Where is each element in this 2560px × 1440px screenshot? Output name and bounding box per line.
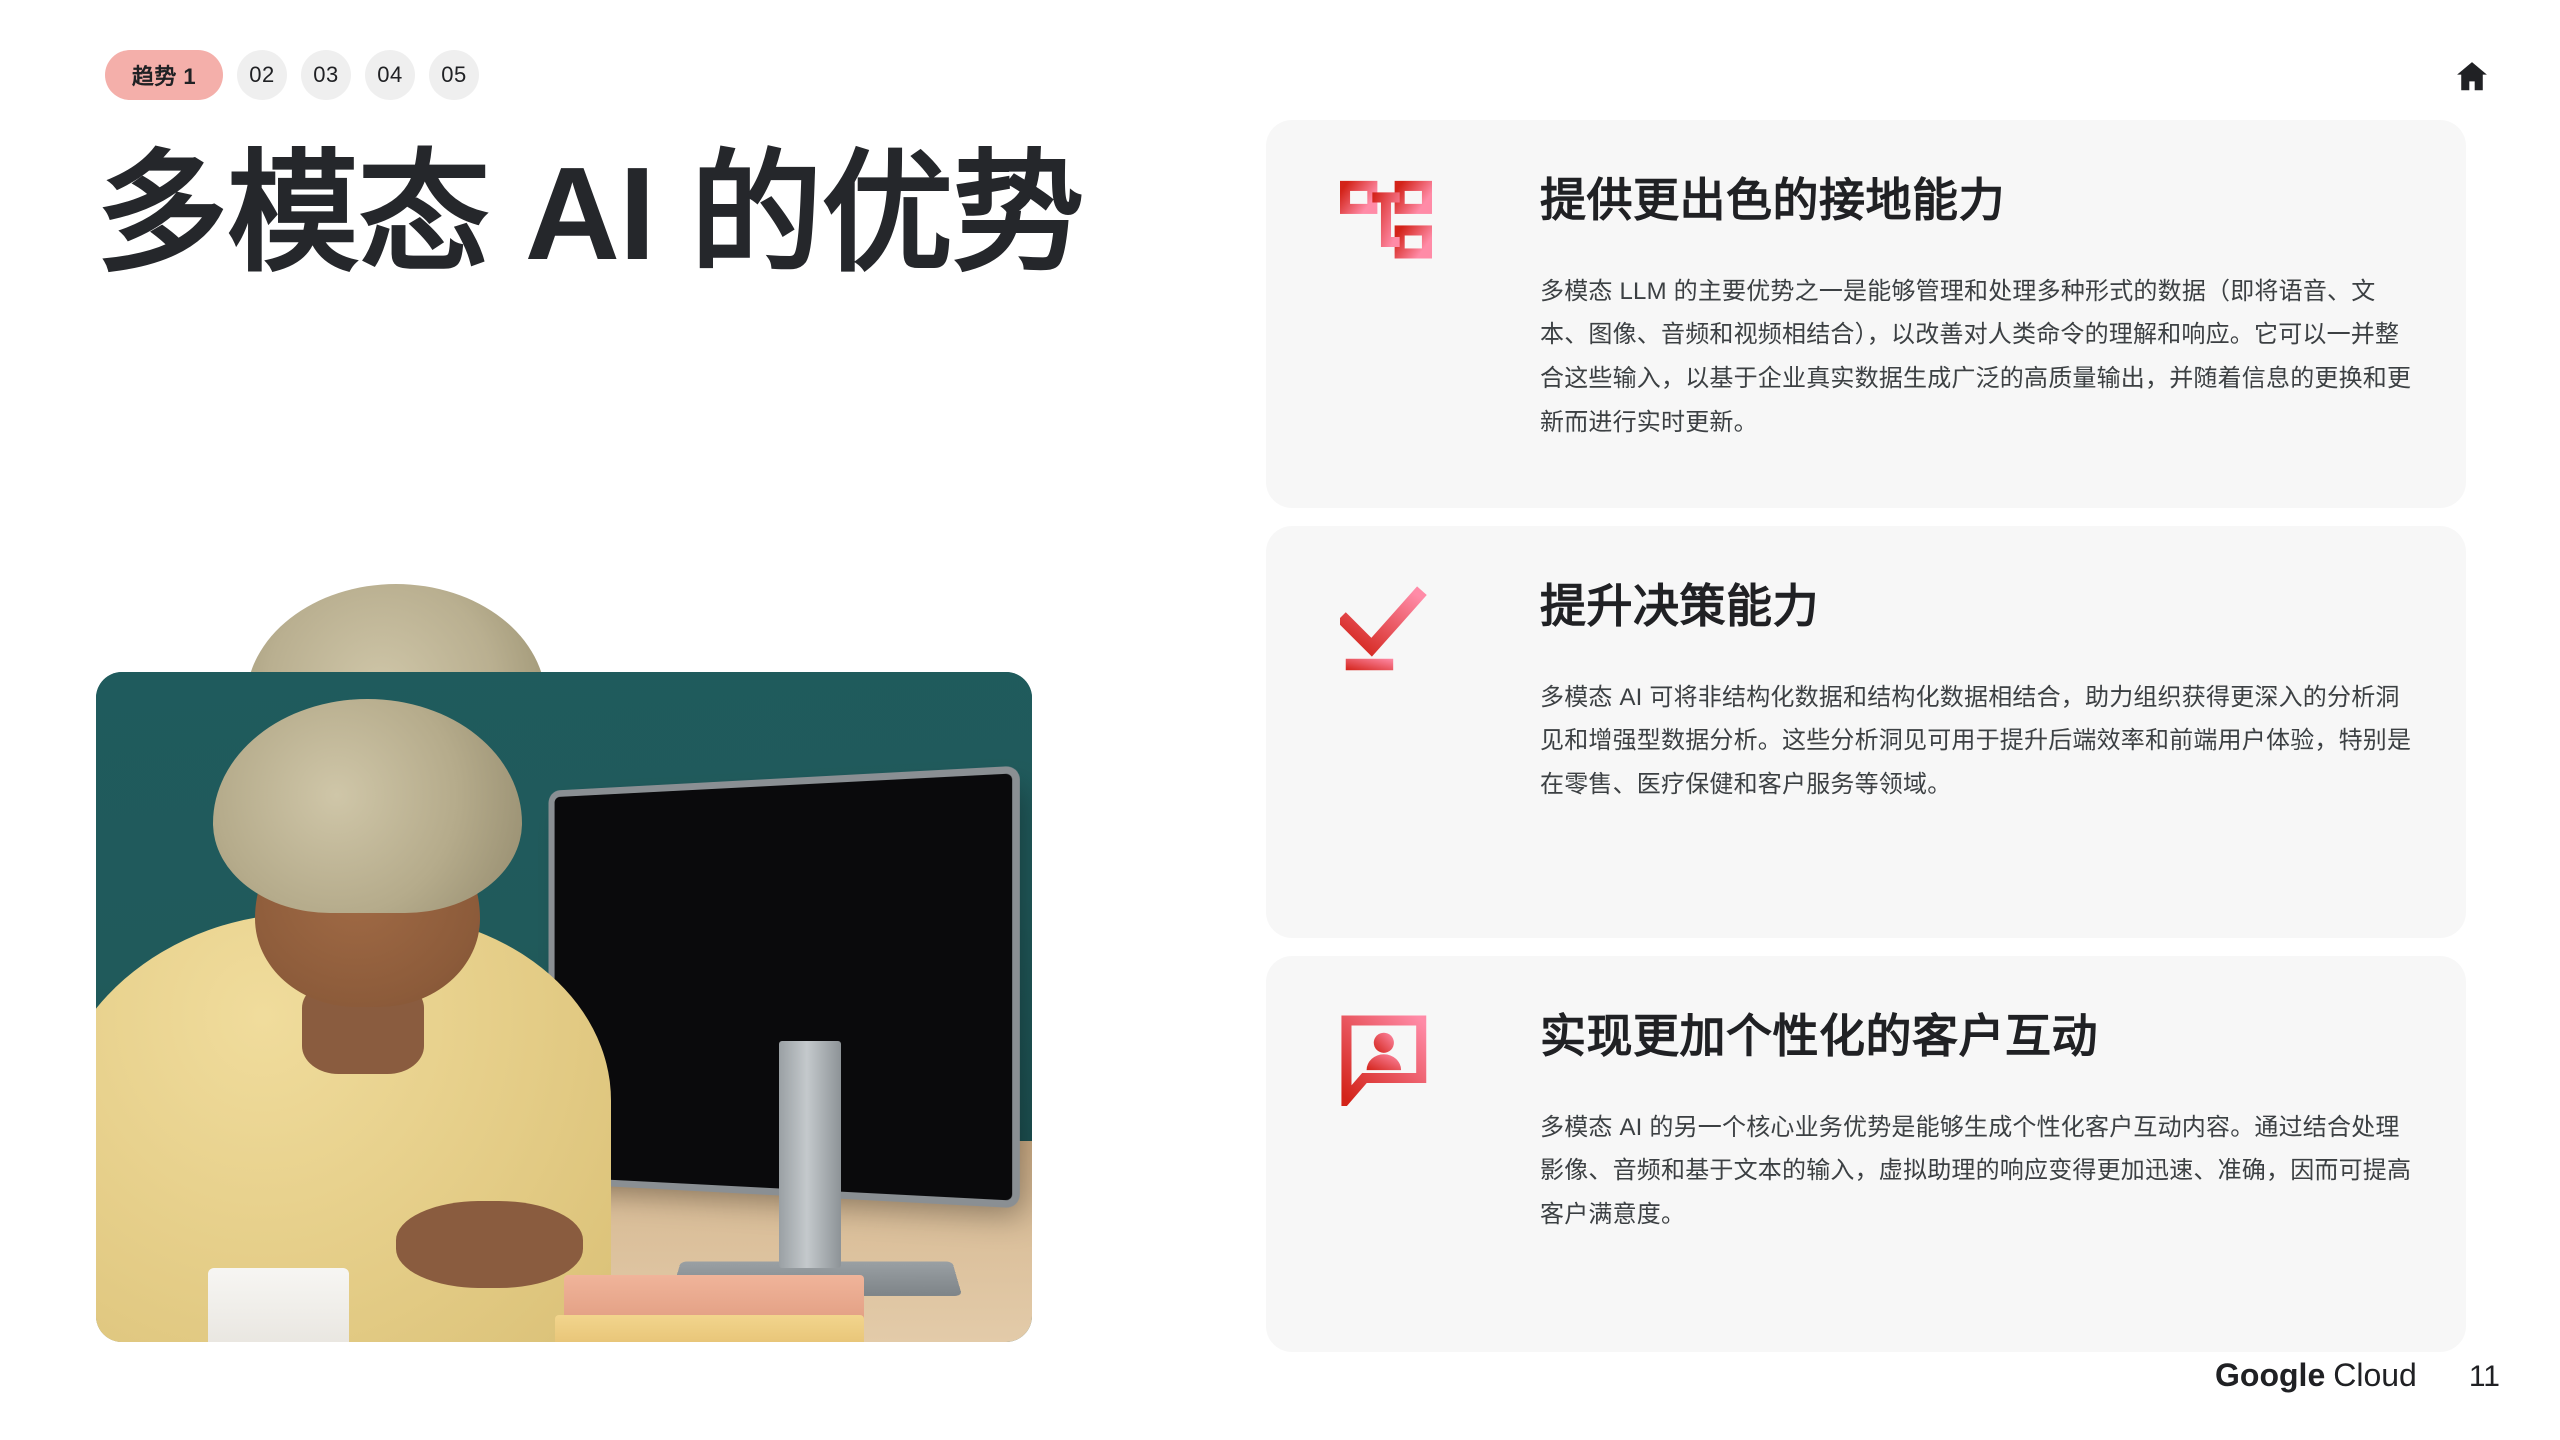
page-number: 11 bbox=[2469, 1360, 2500, 1394]
page-title: 多模态 AI 的优势 bbox=[96, 140, 1216, 288]
checkmark-icon bbox=[1340, 584, 1432, 676]
benefit-card-2: 提升决策能力 多模态 AI 可将非结构化数据和结构化数据相结合，助力组织获得更深… bbox=[1266, 526, 2466, 938]
benefit-card-1: 提供更出色的接地能力 多模态 LLM 的主要优势之一是能够管理和处理多种形式的数… bbox=[1266, 120, 2466, 508]
pagination-item-03[interactable]: 03 bbox=[301, 50, 351, 100]
photo-cup bbox=[208, 1268, 348, 1342]
benefit-card-1-body: 提供更出色的接地能力 多模态 LLM 的主要优势之一是能够管理和处理多种形式的数… bbox=[1540, 172, 2418, 444]
pagination: 趋势 1 02 03 04 05 bbox=[105, 50, 479, 100]
google-cloud-logo: GoogleCloud bbox=[2215, 1357, 2417, 1394]
pagination-item-05[interactable]: 05 bbox=[429, 50, 479, 100]
photo-notebook-secondary bbox=[555, 1315, 864, 1342]
photo-person-hands bbox=[396, 1201, 583, 1288]
benefit-card-1-text: 多模态 LLM 的主要优势之一是能够管理和处理多种形式的数据（即将语音、文本、图… bbox=[1540, 270, 2418, 445]
hero-photo bbox=[96, 672, 1032, 1342]
pagination-item-02[interactable]: 02 bbox=[237, 50, 287, 100]
slide-root: 趋势 1 02 03 04 05 多模态 AI 的优势 bbox=[0, 0, 2560, 1440]
photo-frame bbox=[96, 672, 1032, 1342]
benefit-card-3-text: 多模态 AI 的另一个核心业务优势是能够生成个性化客户互动内容。通过结合处理影像… bbox=[1540, 1106, 2418, 1237]
benefit-card-2-body: 提升决策能力 多模态 AI 可将非结构化数据和结构化数据相结合，助力组织获得更深… bbox=[1540, 578, 2418, 807]
benefit-card-1-title: 提供更出色的接地能力 bbox=[1540, 172, 2418, 230]
logo-cloud: Cloud bbox=[2333, 1357, 2417, 1393]
pagination-item-04[interactable]: 04 bbox=[365, 50, 415, 100]
benefit-card-2-title: 提升决策能力 bbox=[1540, 578, 2418, 636]
benefit-card-3-title: 实现更加个性化的客户互动 bbox=[1540, 1008, 2418, 1066]
hierarchy-nodes-icon bbox=[1340, 178, 1432, 270]
photo-monitor-stand bbox=[779, 1041, 841, 1269]
pagination-item-active[interactable]: 趋势 1 bbox=[105, 50, 223, 100]
home-icon[interactable] bbox=[2444, 48, 2500, 104]
footer: GoogleCloud 11 bbox=[2215, 1357, 2500, 1394]
chat-person-icon bbox=[1340, 1014, 1432, 1106]
benefit-card-2-text: 多模态 AI 可将非结构化数据和结构化数据相结合，助力组织获得更深入的分析洞见和… bbox=[1540, 676, 2418, 807]
benefit-card-list: 提供更出色的接地能力 多模态 LLM 的主要优势之一是能够管理和处理多种形式的数… bbox=[1266, 120, 2466, 1352]
logo-google: Google bbox=[2215, 1357, 2325, 1393]
benefit-card-3-body: 实现更加个性化的客户互动 多模态 AI 的另一个核心业务优势是能够生成个性化客户… bbox=[1540, 1008, 2418, 1237]
benefit-card-3: 实现更加个性化的客户互动 多模态 AI 的另一个核心业务优势是能够生成个性化客户… bbox=[1266, 956, 2466, 1352]
